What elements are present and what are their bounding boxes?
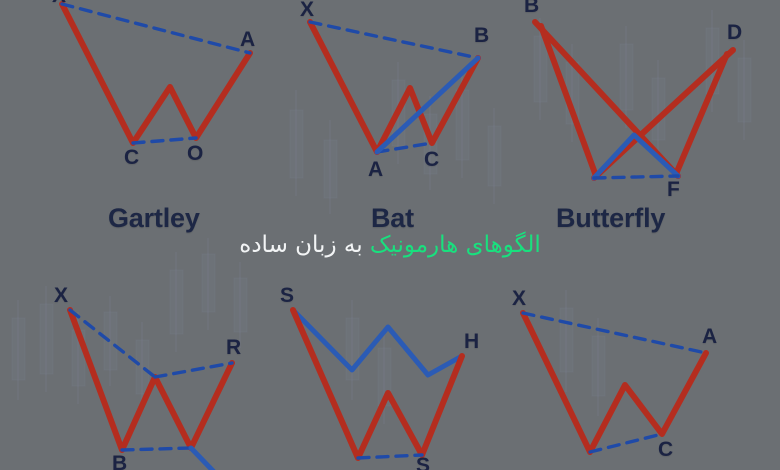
bat-dashed-xb — [310, 22, 478, 58]
bottom-left-red-zigzag — [70, 310, 232, 450]
gartley-red-zigzag — [62, 4, 250, 143]
pattern-title-gartley: Gartley — [108, 203, 200, 234]
butterfly-red-outer-left — [541, 26, 596, 176]
gartley-point-label-o: O — [187, 142, 203, 166]
gartley-dashed-xa — [62, 4, 250, 53]
gartley-point-label-c: C — [124, 146, 139, 170]
bottom-middle-point-label-h: H — [464, 330, 479, 354]
caption-white-text: به زبان ساده — [239, 232, 362, 258]
bottom-left-point-label-b: B — [112, 452, 127, 470]
pattern-title-butterfly: Butterfly — [556, 203, 665, 234]
butterfly-dashed-base — [594, 176, 678, 178]
bottom-right-point-label-c: C — [658, 438, 673, 462]
persian-caption: الگوهای هارمونیک به زبان ساده — [0, 232, 780, 258]
pattern-bottom-right — [523, 313, 706, 452]
gartley-point-label-x: X — [52, 0, 66, 8]
bottom-left-solid-blue-tail — [191, 448, 216, 470]
bat-point-label-c: C — [424, 148, 439, 172]
bottom-left-point-label-r: R — [226, 336, 241, 360]
bat-point-label-a: A — [368, 158, 383, 182]
pattern-butterfly — [535, 22, 733, 178]
pattern-infographic: X A C O X B A C B D F X R B S H S X A C … — [0, 0, 780, 470]
bottom-left-dashed-mid-r — [155, 363, 232, 377]
butterfly-point-label-d: D — [727, 21, 742, 45]
bottom-middle-point-label-s2: S — [416, 454, 430, 470]
bottom-right-dashed-xa — [523, 313, 706, 353]
pattern-bottom-middle — [293, 310, 462, 458]
bat-point-label-x: X — [300, 0, 314, 22]
caption-green-text: الگوهای هارمونیک — [370, 232, 541, 258]
bottom-middle-dashed-base — [358, 455, 422, 458]
pattern-title-bat: Bat — [371, 203, 414, 234]
bottom-middle-point-label-s1: S — [280, 284, 294, 308]
butterfly-point-label-b: B — [524, 0, 539, 18]
butterfly-red-outer-right — [676, 54, 727, 174]
pattern-bat — [310, 22, 478, 152]
pattern-bottom-left — [70, 310, 232, 470]
gartley-point-label-a: A — [240, 28, 255, 52]
bottom-right-point-label-a: A — [702, 325, 717, 349]
bottom-right-point-label-x: X — [512, 287, 526, 311]
pattern-gartley — [62, 4, 250, 143]
bat-point-label-b: B — [474, 24, 489, 48]
bottom-left-point-label-x: X — [54, 284, 68, 308]
bottom-left-dashed-b-low — [122, 448, 191, 450]
bottom-middle-red-zigzag — [293, 310, 462, 458]
butterfly-point-label-f: F — [667, 178, 680, 202]
